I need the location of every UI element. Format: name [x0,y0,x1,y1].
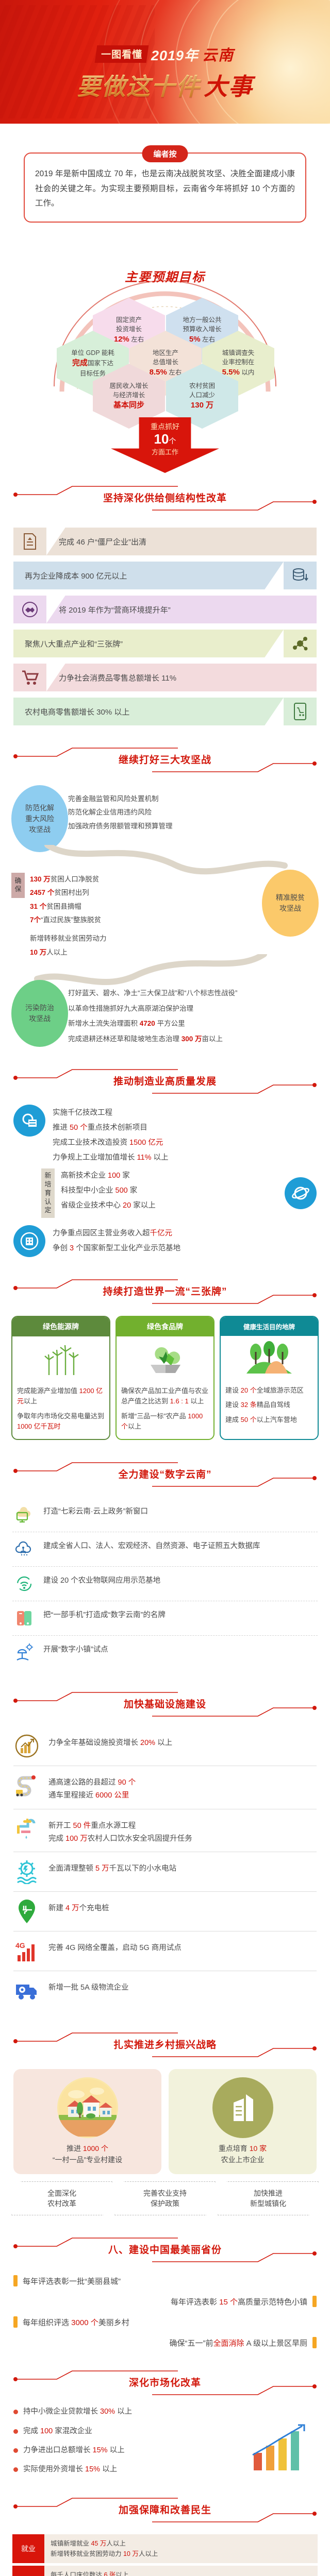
hero-badge: 一图看懂 [95,45,149,63]
charging-pin-icon [13,1898,40,1925]
battle-pollution-items: 打好蓝天、碧水、净土“三大保卫战”和“八个标志性战役” 以革命性措施抓好九大高原… [68,980,319,1045]
infra-item-1: 通高速公路的县超过 90 个通车里程接近 6000 公里 [13,1766,317,1809]
battle-risk: 防范化解重大风险攻坚战 完善金融监管和风险处置机制 防范化解企业信用违约风险 加… [11,785,319,852]
section-heading-5: 全力建设“数字云南” [0,1454,330,1495]
battle-connector-1 [11,852,319,870]
infra-item-3: 全面清理整顿 5 万千瓦以下的小水电站 [13,1852,317,1892]
editor-note-box: 编者按 2019 年是新中国成立 70 年，也是云南决战脱贫攻坚、决胜全面建成小… [24,152,306,223]
hero-province: 云南 [202,43,234,65]
orbit-icon [285,1177,317,1209]
coins-icon [284,562,317,589]
battle-poverty: 精准脱贫攻坚战 确保 130 万贫困人口净脱贫 2457 个贫困村出列 31 个… [11,870,319,959]
battle-connector-2 [11,959,319,980]
section-heading-1: 坚持深化供给侧结构性改革 [0,478,330,518]
brand-card-energy-body: 完成能源产业增加值 1200 亿元以上 争取年内市场化交易电量达到 1000 亿… [12,1382,109,1439]
main-targets-title: 主要预期目标 [0,267,330,285]
cultivate-badge: 新培育认定 [41,1168,55,1218]
village-tag-1: 完善农业支持保护政策 [114,2181,216,2216]
manufacturing-block-2-items: 力争重点园区主营业务收入超千亿元 争创 3 个国家新型工业化产业示范基地 [53,1225,317,1256]
digital-item-1: 建成全省人口、法人、宏观经济、自然资源、电子证照五大数据库 [12,1532,318,1567]
battle-pollution-bubble: 污染防治攻坚战 [11,980,68,1047]
infra-item-6: 新增一批 5A 级物流企业 [13,1971,317,2010]
forest-path-icon [221,1336,318,1381]
hero-title-accent: 大事 [204,68,253,102]
infrastructure-list: 力争全年基础设施投资增长 20% 以上 通高速公路的县超过 90 个通车里程接近… [0,1724,330,2011]
logistics-truck-icon [13,1977,40,2004]
digital-town-icon [12,1641,36,1665]
digital-item-4: 开展“数字小镇”试点 [12,1636,318,1670]
bullet-dot [13,2429,18,2434]
editor-note-text: 2019 年是新中国成立 70 年，也是云南决战脱贫攻坚、决胜全面建成小康社会的… [35,167,295,211]
growth-chart-icon [13,1733,40,1759]
infra-item-4: 新建 4 万个充电桩 [13,1892,317,1931]
supply-side-item-2: 将 2019 年作为“营商环境提升年” [13,596,317,623]
beauty-item-0: 每年评选表彰一批“美丽县城” [13,2275,317,2286]
building-icon [13,1225,45,1257]
infra-item-2: 新开工 50 件重点水源工程完成 100 万农村人口饮水安全巩固提升任务 [13,1809,317,1853]
editor-note-wrapper: 编者按 2019 年是新中国成立 70 年，也是云南决战脱贫攻坚、决胜全面建成小… [13,139,317,232]
bullet-dot [13,2448,18,2453]
beauty-item-3: 确保“五一”前全面消除 A 级以上景区旱厕 [13,2337,317,2348]
three-brand-cards: 绿色能源牌 完成能源产业增加值 1200 亿元以上 争取年内市场化交易电量达到 … [0,1312,330,1440]
section-heading-10: 加强保障和改善民生 [0,2490,330,2530]
brand-card-food: 绿色食品牌 确保农产品加工业产值与农业总产值之比达到 1.6 : 1 以上 新增… [115,1316,214,1440]
village-cards: 推进 1000 个“一村一品”专业村建设 重点培育 10 家农业上市企业 [0,2065,330,2174]
beauty-item-2: 每年组织评选 3000 个美丽乡村 [13,2316,317,2328]
beauty-province-list: 每年评选表彰一批“美丽县城” 每年评选表彰 15 个高质量示范特色小镇 每年组织… [0,2270,330,2348]
editor-note-badge: 编者按 [142,145,188,162]
village-tag-2: 加快推进新型城镇化 [218,2181,319,2216]
accent-bar [312,2296,317,2307]
brand-card-health: 健康生活目的地牌 建设 20 个全域旅游示范区 建设 32 条精品自驾线 建成 … [220,1316,319,1440]
section-heading-9: 深化市场化改革 [0,2363,330,2403]
cloud-data-icon [12,1537,36,1561]
svg-text:4G: 4G [15,1941,25,1950]
livelihood-body: 城镇新增就业 45 万人以上新增转移就业贫困劳动力 10 万人以上 [44,2534,318,2563]
target-hex-grid: 固定资产投资增长 12% 左右 地方一般公共预算收入增长 5% 左右 单位 GD… [57,314,273,443]
hero-year: 2019年 [151,44,199,64]
vegetable-bowl-icon [117,1336,213,1382]
reform-item-0: 持中小微企业贷款增长 30% 以上 [13,2406,317,2418]
battle-poverty-items: 130 万贫困人口净脱贫 2457 个贫困村出列 31 个贫困县摘帽 7个“直过… [30,873,262,959]
supply-side-banner-list: 完成 46 户“僵尸企业”出清 再为企业降成本 900 亿元以上 将 2019 … [0,528,330,725]
supply-side-item-0: 完成 46 户“僵尸企业”出清 [13,528,317,555]
three-battles-section: 防范化解重大风险攻坚战 完善金融监管和风险处置机制 防范化解企业信用违约风险 加… [0,780,330,1047]
growth-arrow-chart [249,2421,321,2472]
handshake-icon [13,596,46,623]
manufacturing-block-1-items: 实施千亿技改工程 推进 50 个重点技术创新项目 完成工业技术改造投资 1500… [53,1105,317,1165]
digital-item-2: 建设 20 个农业物联网应用示范基地 [12,1567,318,1601]
manufacturing-section: 实施千亿技改工程 推进 50 个重点技术创新项目 完成工业技术改造投资 1500… [0,1101,330,1257]
two-phones-icon [12,1606,36,1630]
livelihood-row-1: 卫生 每千人口床位数达 6 张以上乡镇卫生院与村卫生室标准化建设达标率 100%… [12,2566,318,2576]
main-targets-section: 主要预期目标 固定资产投资增长 12% 左右 地方一般公共预算收入增长 5% 左… [0,237,330,464]
livelihood-table: 就业 城镇新增就业 45 万人以上新增转移就业贫困劳动力 10 万人以上 卫生 … [0,2530,330,2576]
infra-item-5: 4G 完善 4G 网络全覆盖，启动 5G 商用试点 [13,1931,317,1971]
agri-building-icon [212,2077,273,2138]
supply-side-item-1: 再为企业降成本 900 亿元以上 [13,562,317,589]
section-heading-6: 加快基础设施建设 [0,1684,330,1724]
beauty-item-1: 每年评选表彰 15 个高质量示范特色小镇 [13,2296,317,2307]
battle-poverty-bubble: 精准脱贫攻坚战 [262,870,319,937]
ensure-badge: 确保 [11,873,25,898]
battle-risk-items: 完善金融监管和风险处置机制 防范化解企业信用违约风险 加强政府债务限额管理和预算… [68,785,319,833]
network-icon [284,630,317,657]
reform-list: 持中小微企业贷款增长 30% 以上 完成 100 家混改企业 力争进出口总额增长… [0,2403,330,2476]
iot-wifi-icon [12,1572,36,1596]
infra-item-0: 力争全年基础设施投资增长 20% 以上 [13,1726,317,1766]
livelihood-label: 卫生 [12,2566,44,2576]
road-truck-icon [13,1772,40,1799]
cultivate-items: 高新技术企业 100 家 科技型中小企业 500 家 省级企业技术中心 20 家… [61,1168,278,1213]
supply-side-item-5: 农村电商零售额增长 30% 以上 [13,698,317,725]
digital-yunnan-list: 打造“七彩云南·云上政务”新窗口 建成全省人口、法人、宏观经济、自然资源、电子证… [0,1495,330,1670]
supply-side-item-4: 力争社会消费品零售总额增长 11% [13,664,317,691]
livelihood-label: 就业 [12,2534,44,2563]
manufacturing-block-2: 力争重点园区主营业务收入超千亿元 争创 3 个国家新型工业化产业示范基地 [13,1225,317,1257]
hydro-power-icon [13,1858,40,1885]
battle-risk-bubble: 防范化解重大风险攻坚战 [11,785,68,852]
bullet-dot [13,2410,18,2414]
signal-4g-icon: 4G [13,1938,40,1964]
bullet-dot [13,2467,18,2472]
brand-card-food-body: 确保农产品加工业产值与农业总产值之比达到 1.6 : 1 以上 新增“三品一标”… [117,1382,213,1439]
mobile-cart-icon [284,698,317,725]
section-heading-2: 继续打好三大攻坚战 [0,740,330,780]
digital-item-3: 把“一部手机”打造成“数字云南”的名牌 [12,1601,318,1636]
digital-item-0: 打造“七彩云南·云上政务”新窗口 [12,1498,318,1532]
accent-bar [13,2316,18,2328]
section-heading-7: 扎实推进乡村振兴战略 [0,2025,330,2065]
infographic-page: 一图看懂 2019年 云南 要做这十件 大事 编者按 2019 年是新中国成立 … [0,0,330,2576]
faucet-icon [13,1816,40,1842]
manufacturing-cultivate-block: 新培育认定 高新技术企业 100 家 科技型中小企业 500 家 省级企业技术中… [41,1168,317,1218]
village-card-1: 重点培育 10 家农业上市企业 [169,2069,317,2174]
section-heading-8: 八、建设中国最美丽省份 [0,2230,330,2270]
gear-factory-icon [13,1105,45,1137]
hero-title-main: 要做这十件 [77,68,201,102]
wind-turbine-icon [12,1336,109,1382]
livelihood-body: 每千人口床位数达 6 张以上乡镇卫生院与村卫生室标准化建设达标率 100%县级公… [44,2566,318,2576]
hero-banner: 一图看懂 2019年 云南 要做这十件 大事 [0,0,330,124]
document-icon [13,528,46,555]
accent-bar [312,2337,317,2348]
village-house-icon [57,2077,118,2138]
village-tag-row: 全面深化农村改革 完善农业支持保护政策 加快推进新型城镇化 [0,2174,330,2216]
manufacturing-block-1: 实施千亿技改工程 推进 50 个重点技术创新项目 完成工业技术改造投资 1500… [13,1105,317,1165]
section-heading-3: 推动制造业高质量发展 [0,1061,330,1101]
village-tag-0: 全面深化农村改革 [11,2181,112,2216]
brand-card-energy: 绿色能源牌 完成能源产业增加值 1200 亿元以上 争取年内市场化交易电量达到 … [11,1316,110,1440]
supply-side-item-3: 聚焦八大重点产业和“三张牌” [13,630,317,657]
livelihood-row-0: 就业 城镇新增就业 45 万人以上新增转移就业贫困劳动力 10 万人以上 [12,2534,318,2563]
battle-pollution: 污染防治攻坚战 打好蓝天、碧水、净土“三大保卫战”和“八个标志性战役” 以革命性… [11,980,319,1047]
cart-icon [13,664,46,691]
cloud-monitor-icon [12,1503,36,1527]
section-heading-4: 持续打造世界一流“三张牌” [0,1272,330,1312]
brand-card-health-body: 建设 20 个全域旅游示范区 建设 32 条精品自驾线 建成 50 个以上汽车营… [221,1381,318,1432]
accent-bar [13,2275,18,2286]
village-card-0: 推进 1000 个“一村一品”专业村建设 [13,2069,161,2174]
